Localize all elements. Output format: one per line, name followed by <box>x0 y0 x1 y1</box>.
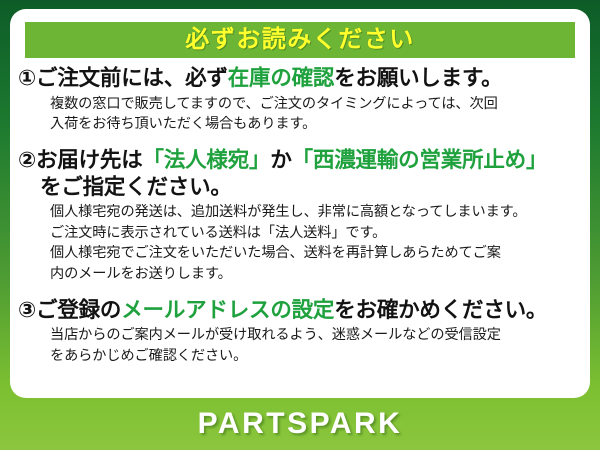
item-2-heading-part-3: か <box>270 148 291 172</box>
item-3-heading-highlight: メールアドレスの設定 <box>121 298 334 322</box>
item-2-body-line-2: ご注文時に表示されている送料は「法人送料」です。 <box>50 223 584 244</box>
item-3-marker: ③ <box>18 298 36 322</box>
notice-item-3: ③ご登録のメールアドレスの設定をお確かめください。 当店からのご案内メールが受け… <box>10 297 590 367</box>
notice-banner: 必ずお読みください ①ご注文前には、必ず在庫の確認をお願いします。 複数の窓口で… <box>0 0 600 450</box>
item-3-heading-part-3: をお確かめください。 <box>334 298 547 322</box>
brand-footer: PARTSPARK <box>0 398 600 450</box>
item-2-heading-highlight-2: 「西濃運輸の営業所止め」 <box>292 148 548 172</box>
item-3-body-line-1: 当店からのご案内メールが受け取れるよう、迷惑メールなどの受信設定 <box>50 325 584 346</box>
item-2-body-line-3: 個人様宅宛でご注文をいただいた場合、送料を再計算しあらためてご案 <box>50 243 584 264</box>
notice-panel: 必ずお読みください ①ご注文前には、必ず在庫の確認をお願いします。 複数の窓口で… <box>10 9 590 398</box>
item-1-heading-highlight: 在庫の確認 <box>228 66 335 90</box>
notice-items-list: ①ご注文前には、必ず在庫の確認をお願いします。 複数の窓口で販売してますので、ご… <box>10 65 590 366</box>
item-1-body-line-2: 入荷をお待ち頂いただく場合もあります。 <box>50 114 584 135</box>
item-3-heading: ③ご登録のメールアドレスの設定をお確かめください。 <box>18 297 584 324</box>
item-1-heading: ①ご注文前には、必ず在庫の確認をお願いします。 <box>18 65 584 92</box>
item-2-body-line-4: 内のメールをお送りします。 <box>50 264 584 285</box>
item-1-heading-part-1: ご注文前には、必ず <box>36 66 228 90</box>
item-2-marker: ② <box>18 148 36 172</box>
item-2-heading-continuation: をご指定ください。 <box>18 174 584 201</box>
item-1-body: 複数の窓口で販売してますので、ご注文のタイミングによっては、次回 入荷をお待ち頂… <box>18 94 584 135</box>
item-1-heading-part-3: をお願いします。 <box>334 66 502 90</box>
item-3-body: 当店からのご案内メールが受け取れるよう、迷惑メールなどの受信設定 をあらかじめご… <box>18 325 584 366</box>
item-2-heading-part-1: お届け先は <box>36 148 143 172</box>
item-2-heading-highlight-1: 「法人様宛」 <box>143 148 271 172</box>
item-1-body-line-1: 複数の窓口で販売してますので、ご注文のタイミングによっては、次回 <box>50 94 584 115</box>
notice-item-1: ①ご注文前には、必ず在庫の確認をお願いします。 複数の窓口で販売してますので、ご… <box>10 65 590 135</box>
item-3-heading-part-1: ご登録の <box>36 298 121 322</box>
brand-name: PARTSPARK <box>198 409 403 439</box>
item-2-heading: ②お届け先は「法人様宛」か「西濃運輸の営業所止め」 <box>18 147 584 174</box>
notice-item-2: ②お届け先は「法人様宛」か「西濃運輸の営業所止め」 をご指定ください。 個人様宅… <box>10 147 590 285</box>
notice-title: 必ずお読みください <box>185 28 415 52</box>
item-2-body-line-1: 個人様宅宛の発送は、追加送料が発生し、非常に高額となってしまいます。 <box>50 202 584 223</box>
item-2-body: 個人様宅宛の発送は、追加送料が発生し、非常に高額となってしまいます。 ご注文時に… <box>18 202 584 284</box>
item-3-body-line-2: をあらかじめご確認ください。 <box>50 346 584 367</box>
item-1-marker: ① <box>18 66 36 90</box>
notice-title-bar: 必ずお読みください <box>25 22 575 58</box>
